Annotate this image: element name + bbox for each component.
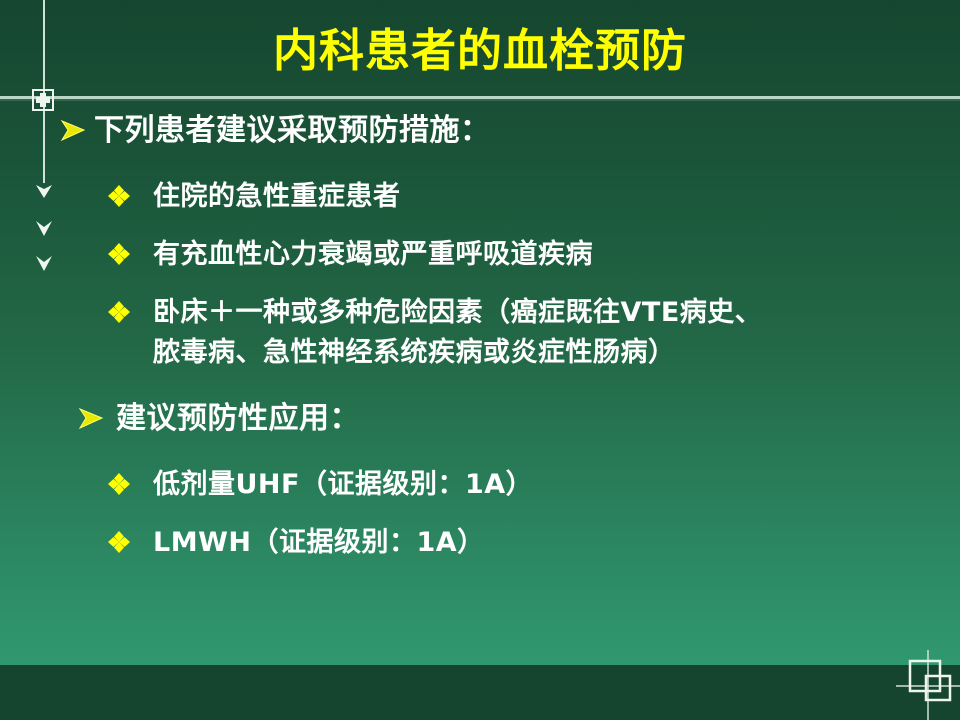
section-two-item-1-text: 低剂量UHF（证据级别：1A） — [153, 465, 960, 505]
section-one-heading-row: 下列患者建议采取预防措施： — [60, 110, 960, 152]
section-two-item-2-text: LMWH（证据级别：1A） — [153, 523, 960, 563]
section-two-item-2: LMWH（证据级别：1A） — [108, 523, 960, 563]
section-two-item-1: 低剂量UHF（证据级别：1A） — [108, 465, 960, 505]
section-one-item-1-text: 住院的急性重症患者 — [153, 177, 960, 217]
diamond-bullet-icon — [108, 243, 130, 265]
diamond-bullet-icon — [108, 301, 130, 323]
section-one-item-1: 住院的急性重症患者 — [108, 177, 960, 217]
bottom-band — [0, 665, 960, 720]
section-one-item-2: 有充血性心力衰竭或严重呼吸道疾病 — [108, 235, 960, 275]
diamond-bullet-icon — [108, 473, 130, 495]
arrow-bullet-icon — [78, 406, 104, 432]
diamond-bullet-icon — [108, 185, 130, 207]
overlapping-squares-decoration — [896, 650, 960, 720]
slide-body: 下列患者建议采取预防措施： 住院的急性重症患者 — [0, 108, 960, 563]
section-one-item-2-text: 有充血性心力衰竭或严重呼吸道疾病 — [153, 235, 960, 275]
section-one-item-3: 卧床＋一种或多种危险因素（癌症既往VTE病史、 脓毒病、急性神经系统疾病或炎症性… — [108, 293, 960, 373]
presentation-slide: 内科患者的血栓预防 — [0, 0, 960, 720]
section-two-heading-text: 建议预防性应用： — [116, 398, 360, 440]
title-divider-rule — [0, 96, 960, 99]
arrow-bullet-icon — [60, 118, 86, 144]
section-two-heading-row: 建议预防性应用： — [78, 398, 960, 440]
section-one-heading-text: 下列患者建议采取预防措施： — [94, 110, 491, 152]
slide-title: 内科患者的血栓预防 — [0, 23, 960, 79]
section-one-item-3-line-2: 脓毒病、急性神经系统疾病或炎症性肠病） — [153, 333, 960, 373]
diamond-bullet-icon — [108, 531, 130, 553]
section-one-item-3-line-1: 卧床＋一种或多种危险因素（癌症既往VTE病史、 — [153, 293, 960, 333]
